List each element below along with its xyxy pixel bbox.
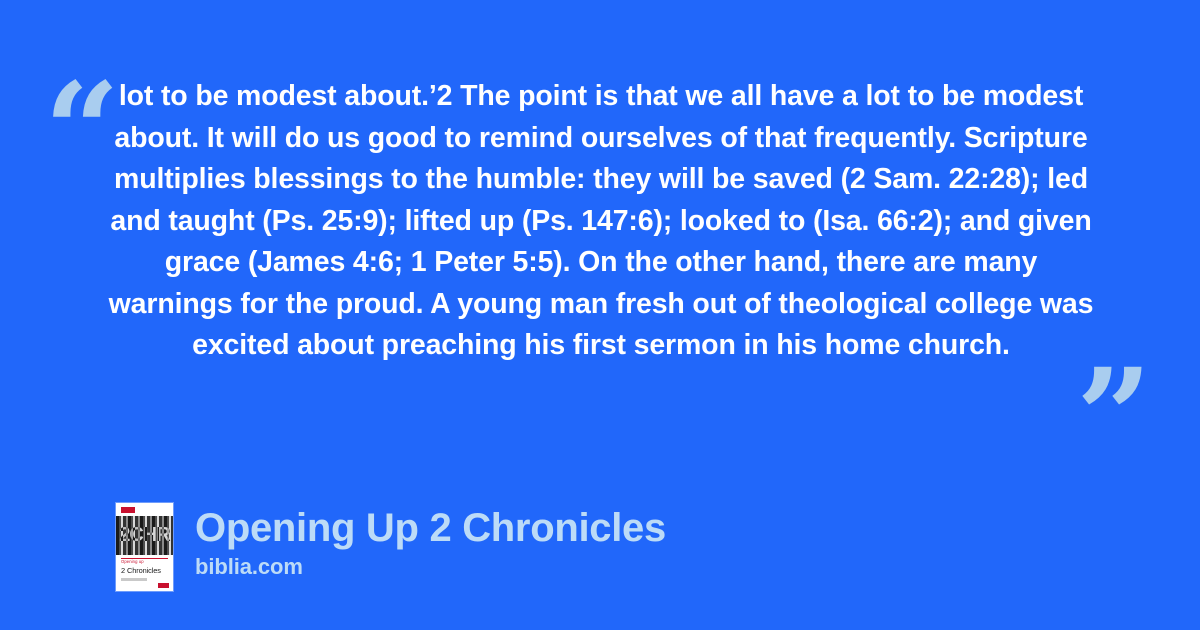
book-title: Opening Up 2 Chronicles [195,505,666,552]
cover-publisher-logo [158,583,169,588]
cover-series-label: Opening up [121,559,144,564]
source-attribution: 2CHR Opening up 2 Chronicles Opening Up … [116,503,666,591]
quote-block: “ lot to be modest about.’2 The point is… [0,44,1200,424]
book-cover-thumbnail: 2CHR Opening up 2 Chronicles [116,503,173,591]
attribution-text-group: Opening Up 2 Chronicles biblia.com [195,503,666,580]
cover-art-text: 2CHR [116,516,173,555]
cover-author-bar [121,578,147,581]
quote-card: “ lot to be modest about.’2 The point is… [0,0,1200,630]
site-name: biblia.com [195,554,666,580]
cover-title-label: 2 Chronicles [121,566,161,575]
cover-top-tag [121,507,135,513]
quote-text: lot to be modest about.’2 The point is t… [108,76,1094,367]
closing-quote-icon: ” [1076,352,1152,484]
